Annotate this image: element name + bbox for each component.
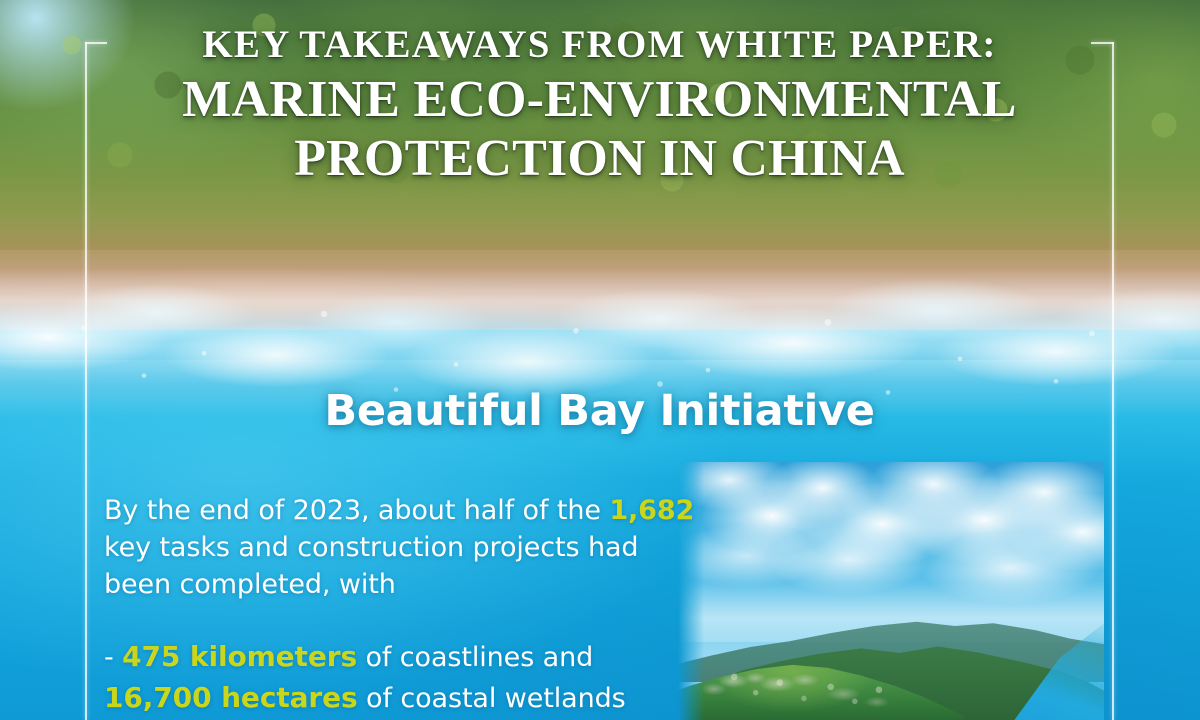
bullet-list: - 475 kilometers of coastlines and 16,70… <box>104 637 704 720</box>
highlight-task-count: 1,682 <box>609 495 694 526</box>
highlight-wetland-area: 16,700 hectares <box>104 681 358 714</box>
infographic-poster: KEY TAKEAWAYS FROM WHITE PAPER: MARINE E… <box>0 0 1200 720</box>
bullet-text: of coastal wetlands <box>358 683 626 714</box>
paragraph-completion-stats: By the end of 2023, about half of the 1,… <box>104 492 704 603</box>
list-item: 16,700 hectares of coastal wetlands <box>104 678 704 719</box>
paragraph-spacer <box>104 603 704 637</box>
bullet-text: of coastlines and <box>357 642 593 673</box>
paragraph-text-after: key tasks and construction projects had … <box>104 532 638 600</box>
paragraph-text-before: By the end of 2023, about half of the <box>104 495 609 526</box>
headline-line-3: PROTECTION IN CHINA <box>85 129 1114 188</box>
highlight-coastline-length: 475 kilometers <box>122 640 357 673</box>
section-title: Beautiful Bay Initiative <box>85 385 1114 437</box>
list-item: - 475 kilometers of coastlines and <box>104 637 704 678</box>
inset-village-texture <box>686 648 954 720</box>
body-copy: By the end of 2023, about half of the 1,… <box>104 492 704 720</box>
page-title: KEY TAKEAWAYS FROM WHITE PAPER: MARINE E… <box>85 20 1114 188</box>
headline-line-1: KEY TAKEAWAYS FROM WHITE PAPER: <box>85 20 1114 70</box>
inset-coastal-mountain-photo <box>678 462 1104 720</box>
bullet-marker: - <box>104 642 122 673</box>
headline-line-2: MARINE ECO-ENVIRONMENTAL <box>85 70 1114 129</box>
